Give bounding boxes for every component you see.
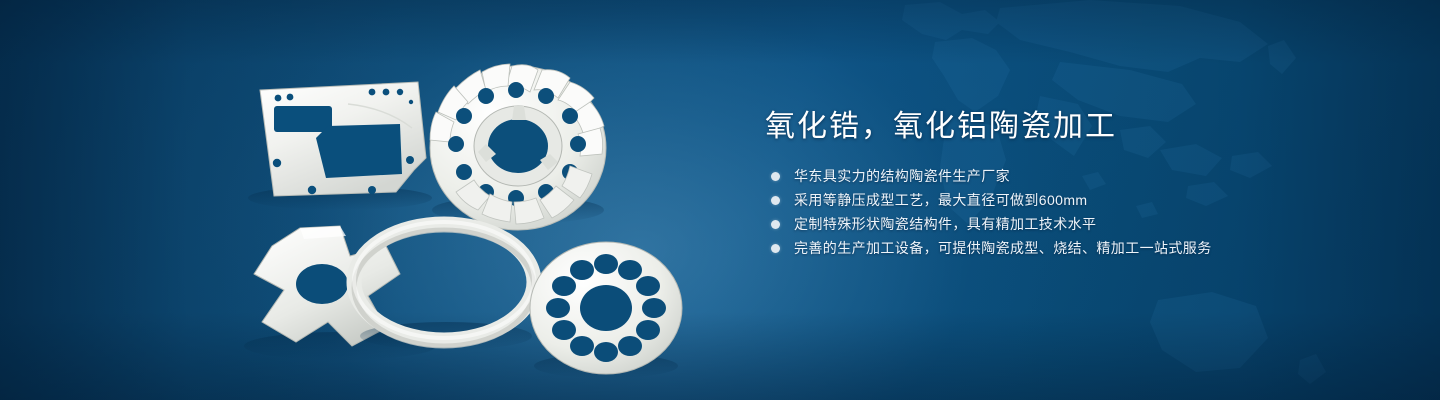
ceramic-impeller-disc	[430, 64, 606, 230]
list-item-label: 定制特殊形状陶瓷结构件，具有精加工技术水平	[794, 216, 1096, 232]
list-item-label: 完善的生产加工设备，可提供陶瓷成型、烧结、精加工一站式服务	[794, 240, 1212, 256]
list-item: 华东具实力的结构陶瓷件生产厂家	[768, 168, 1385, 185]
list-item-label: 采用等静压成型工艺，最大直径可做到600mm	[794, 192, 1087, 208]
hero-banner: 氧化锆，氧化铝陶瓷加工 华东具实力的结构陶瓷件生产厂家 采用等静压成型工艺，最大…	[0, 0, 1440, 400]
page-title: 氧化锆，氧化铝陶瓷加工	[765, 108, 1385, 146]
hero-copy: 氧化锆，氧化铝陶瓷加工 华东具实力的结构陶瓷件生产厂家 采用等静压成型工艺，最大…	[765, 108, 1385, 264]
ceramic-plate-with-cutouts	[248, 82, 432, 210]
list-item: 完善的生产加工设备，可提供陶瓷成型、烧结、精加工一站式服务	[768, 240, 1385, 257]
bullet-dot-icon	[771, 244, 780, 253]
bullet-dot-icon	[771, 172, 780, 181]
list-item: 定制特殊形状陶瓷结构件，具有精加工技术水平	[768, 216, 1385, 233]
ceramic-perforated-disc	[530, 242, 682, 378]
bullet-dot-icon	[771, 220, 780, 229]
list-item-label: 华东具实力的结构陶瓷件生产厂家	[794, 168, 1010, 184]
list-item: 采用等静压成型工艺，最大直径可做到600mm	[768, 192, 1385, 209]
bullet-dot-icon	[771, 196, 780, 205]
ceramic-products-image	[200, 30, 720, 380]
feature-list: 华东具实力的结构陶瓷件生产厂家 采用等静压成型工艺，最大直径可做到600mm 定…	[768, 168, 1385, 257]
